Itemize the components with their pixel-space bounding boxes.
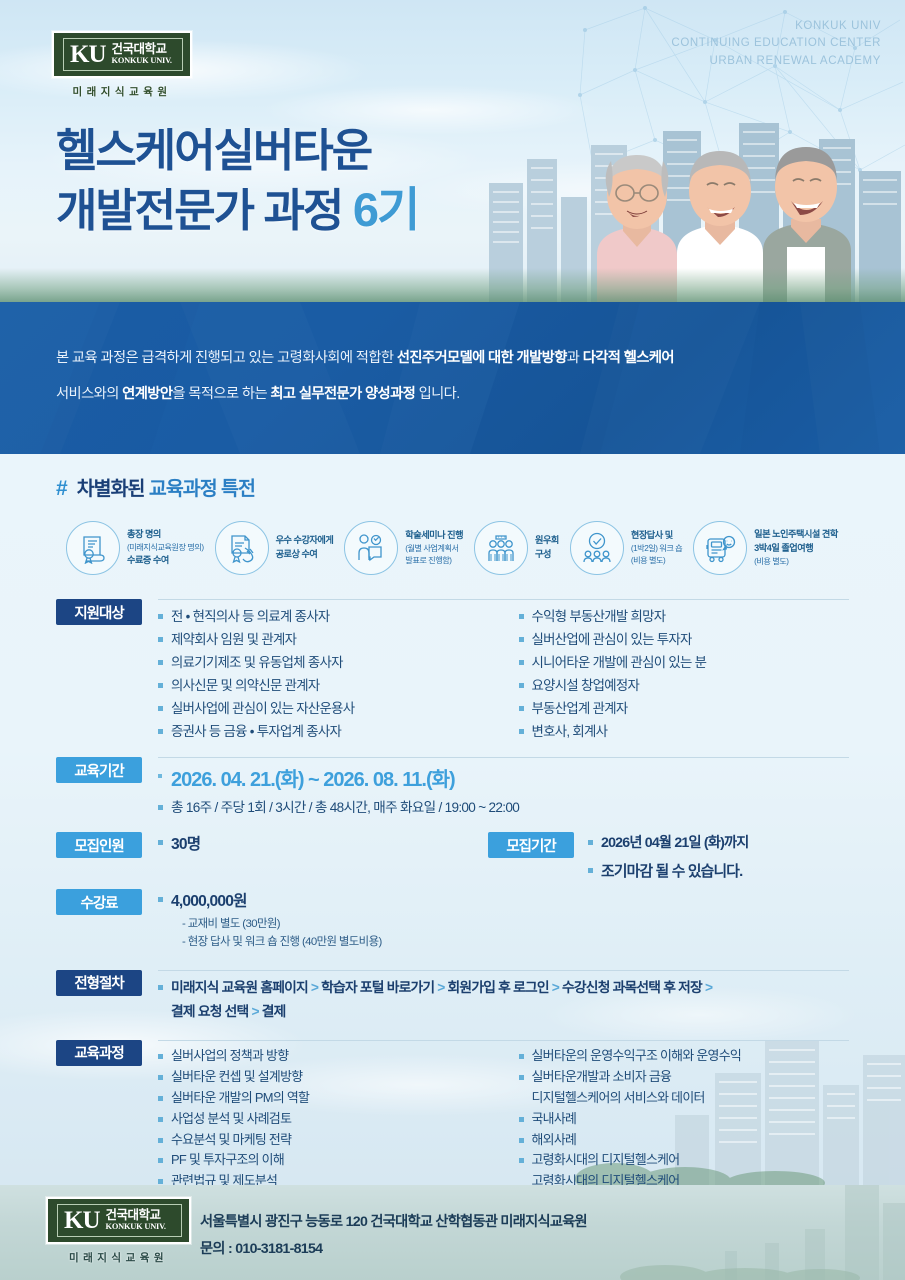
footer-logo: KU 건국대학교 KONKUK UNIV. 미래지식교육원 — [46, 1197, 191, 1265]
logo-box: KU 건국대학교 KONKUK UNIV. — [52, 31, 192, 78]
feature-line: 공로상 수여 — [276, 548, 334, 562]
intro-seg-2a: 서비스 — [56, 386, 94, 402]
intro-seg-1b: 선진주거모델에 대한 개발방향 — [397, 350, 567, 366]
footer-section: KU 건국대학교 KONKUK UNIV. 미래지식교육원 서울특별시 광진구 … — [0, 1185, 905, 1280]
footer-city-decoration — [605, 1185, 905, 1280]
fee-body: 4,000,000원 - 교재비 별도 (30만원) - 현장 답사 및 워크 … — [158, 889, 849, 951]
feature-line: 구성 — [535, 548, 559, 562]
feature-line: 원우회 — [535, 534, 559, 548]
row-quota-recruit: 모집인원 30명 모집기간 2026년 04월 21일 (화)까지 조기마감 될… — [56, 832, 849, 881]
feature-item-alumni: 원우회 구성 — [474, 521, 559, 575]
hero-english-titles: KONKUK UNIV CONTINUING EDUCATION CENTER … — [671, 18, 881, 70]
procedure-separator: > — [434, 980, 447, 995]
curriculum-body: 실버사업의 정책과 방향 실버타운 컨셉 및 설계방향 실버타운 개발의 PM의… — [158, 1040, 849, 1185]
fee-value: 4,000,000원 — [158, 889, 849, 911]
list-item: 실버타운개발과 소비자 금융 — [519, 1067, 850, 1088]
list-item: 관련법규 및 제도분석 — [158, 1171, 489, 1185]
badge-curriculum: 교육과정 — [56, 1040, 142, 1066]
period-date-range: 2026. 04. 21.(화) ~ 2026. 08. 11.(화) — [158, 763, 849, 792]
logo-name-en: KONKUK UNIV. — [112, 56, 172, 65]
intro-seg-1d: 다각적 헬스케어 — [583, 350, 674, 366]
procedure-separator: > — [702, 980, 715, 995]
list-item: 실버사업에 관심이 있는 자산운용사 — [158, 697, 489, 720]
procedure-step: 수강신청 과목선택 후 저장 — [562, 980, 702, 995]
certificate-scroll-icon — [66, 521, 120, 575]
intro-seg-2b: 와의 — [94, 386, 122, 402]
list-item: 요양시설 창업예정자 — [519, 674, 850, 697]
intro-seg-2c: 연계방안 — [122, 386, 172, 402]
feature-text-travel: 일본 노인주택시설 견학 3박4일 졸업여행 (비용 별도) — [754, 528, 838, 568]
features-heading-text: 차별화된 교육과정 특전 — [77, 472, 255, 501]
feature-text-seminar: 학술세미나 진행 (월별 사업계획서 발표로 진행함) — [405, 529, 463, 567]
list-item: 실버타운 컨셉 및 설계방향 — [158, 1067, 489, 1088]
group-people-icon — [474, 521, 528, 575]
logo-subtitle: 미래지식교육원 — [52, 84, 192, 99]
badge-period: 교육기간 — [56, 757, 142, 783]
quota-recruit-body: 30명 모집기간 2026년 04월 21일 (화)까지 조기마감 될 수 있습… — [158, 832, 849, 881]
hero-title-line1: 헬스케어실버타운 — [56, 122, 418, 180]
feature-line: 우수 수강자에게 — [276, 534, 334, 548]
feature-text-award: 우수 수강자에게 공로상 수여 — [276, 534, 334, 562]
quota-value: 30명 — [158, 832, 488, 854]
row-period: 교육기간 2026. 04. 21.(화) ~ 2026. 08. 11.(화)… — [56, 757, 849, 816]
badge-procedure: 전형절차 — [56, 970, 142, 996]
list-item: 실버사업의 정책과 방향 — [158, 1046, 489, 1067]
target-body: 전 • 현직의사 등 의료계 종사자 제약회사 임원 및 관계자 의료기기제조 … — [158, 599, 849, 743]
row-fee: 수강료 4,000,000원 - 교재비 별도 (30만원) - 현장 답사 및… — [56, 889, 849, 951]
feature-item-award: 우수 수강자에게 공로상 수여 — [215, 521, 334, 575]
procedure-body: 미래지식 교육원 홈페이지>학습자 포털 바로가기>회원가입 후 로그인>수강신… — [158, 970, 849, 1024]
seminar-presentation-icon — [344, 521, 398, 575]
footer-logo-ku-mark: KU — [64, 1208, 100, 1233]
fee-note-1: - 교재비 별도 (30만원) — [158, 916, 849, 934]
footer-logo-box: KU 건국대학교 KONKUK UNIV. — [46, 1197, 191, 1244]
curriculum-list-left: 실버사업의 정책과 방향 실버타운 컨셉 및 설계방향 실버타운 개발의 PM의… — [158, 1046, 489, 1185]
hero-title-batch: 6기 — [353, 183, 418, 236]
footer-info: 서울특별시 광진구 능동로 120 건국대학교 산학협동관 미래지식교육원 문의… — [200, 1209, 587, 1263]
target-list-right: 수익형 부동산개발 희망자 실버산업에 관심이 있는 투자자 시니어타운 개발에… — [519, 605, 850, 743]
feature-line: (비용 별도) — [754, 556, 838, 568]
bus-travel-icon — [693, 521, 747, 575]
intro-text: 본 교육 과정은 급격하게 진행되고 있는 고령화사회에 적합한 선진주거모델에… — [0, 302, 905, 413]
body-section: # 차별화된 교육과정 특전 — [0, 454, 905, 1185]
feature-text-alumni: 원우회 구성 — [535, 534, 559, 562]
intro-band: 본 교육 과정은 급격하게 진행되고 있는 고령화사회에 적합한 선진주거모델에… — [0, 302, 905, 454]
logo-name-kr: 건국대학교 — [112, 43, 172, 56]
intro-seg-1a: 본 교육 과정은 급격하게 진행되고 있는 고령화사회에 적합한 — [56, 350, 397, 366]
list-item: 전 • 현직의사 등 의료계 종사자 — [158, 605, 489, 628]
feature-item-seminar: 학술세미나 진행 (월별 사업계획서 발표로 진행함) — [344, 521, 463, 575]
feature-line: 총장 명의 — [127, 528, 204, 542]
list-item: 실버타운 개발의 PM의 역할 — [158, 1088, 489, 1109]
list-item: 변호사, 회계사 — [519, 720, 850, 743]
feature-line: (월별 사업계획서 — [405, 543, 463, 555]
recruit-note: 조기마감 될 수 있습니다. — [588, 860, 749, 881]
procedure-step: 결제 요청 선택 — [171, 1004, 248, 1019]
feature-line: (1박2일) 워크 숍 — [631, 543, 682, 555]
features-heading-accent: 교육과정 특전 — [149, 478, 255, 500]
header-logo: KU 건국대학교 KONKUK UNIV. 미래지식교육원 — [52, 31, 192, 99]
badge-recruit-period: 모집기간 — [488, 832, 574, 858]
list-item: PF 및 투자구조의 이해 — [158, 1150, 489, 1171]
features-heading-plain: 차별화된 — [77, 478, 149, 500]
hero-title: 헬스케어실버타운 개발전문가 과정 6기 — [56, 122, 418, 240]
feature-line: (미래지식교육원장 명의) — [127, 542, 204, 554]
list-item: 실버타운의 운영수익구조 이해와 운영수익 — [519, 1046, 850, 1067]
eng-line-2: CONTINUING EDUCATION CENTER — [671, 35, 881, 52]
feature-text-workshop: 현장답사 및 (1박2일) 워크 숍 (비용 별도) — [631, 529, 682, 567]
feature-line: 수료증 수여 — [127, 554, 204, 568]
period-detail: 총 16주 / 주당 1회 / 3시간 / 총 48시간, 매주 화요일 / 1… — [158, 796, 849, 816]
features-heading: # 차별화된 교육과정 특전 — [56, 472, 849, 501]
footer-address: 서울특별시 광진구 능동로 120 건국대학교 산학협동관 미래지식교육원 — [200, 1209, 587, 1236]
intro-line-2: 서비스와의 연계방안을 목적으로 하는 최고 실무전문가 양성과정 입니다. — [56, 376, 849, 412]
recruit-deadline: 2026년 04월 21일 (화)까지 — [588, 832, 749, 852]
feature-line: 일본 노인주택시설 견학 — [754, 528, 838, 542]
list-item: 국내사례 — [519, 1109, 850, 1130]
list-item: 디지털헬스케어의 서비스와 데이터 — [519, 1088, 850, 1109]
footer-logo-subtitle: 미래지식교육원 — [46, 1250, 191, 1265]
fee-note-2: - 현장 답사 및 워크 숍 진행 (40만원 별도비용) — [158, 934, 849, 952]
list-item: 해외사례 — [519, 1130, 850, 1151]
feature-line: (비용 별도) — [631, 555, 682, 567]
hero-title-line2-text: 개발전문가 과정 — [56, 185, 342, 236]
features-list: 총장 명의 (미래지식교육원장 명의) 수료증 수여 — [56, 515, 849, 585]
row-target: 지원대상 전 • 현직의사 등 의료계 종사자 제약회사 임원 및 관계자 의료… — [56, 599, 849, 743]
list-item: 부동산업계 관계자 — [519, 697, 850, 720]
poster-root: KU 건국대학교 KONKUK UNIV. 미래지식교육원 KONKUK UNI… — [0, 0, 905, 1280]
hero-title-line2: 개발전문가 과정 6기 — [56, 180, 418, 240]
list-item: 증권사 등 금융 • 투자업계 종사자 — [158, 720, 489, 743]
intro-seg-1c: 과 — [567, 350, 583, 366]
list-item: 실버산업에 관심이 있는 투자자 — [519, 628, 850, 651]
badge-target: 지원대상 — [56, 599, 142, 625]
row-procedure: 전형절차 미래지식 교육원 홈페이지>학습자 포털 바로가기>회원가입 후 로그… — [56, 970, 849, 1024]
eng-line-1: KONKUK UNIV — [671, 18, 881, 35]
procedure-step: 결제 — [262, 1004, 286, 1019]
feature-text-certificate: 총장 명의 (미래지식교육원장 명의) 수료증 수여 — [127, 528, 204, 568]
procedure-separator: > — [248, 1004, 261, 1019]
list-item: 수요분석 및 마케팅 전략 — [158, 1130, 489, 1151]
list-item: 수익형 부동산개발 희망자 — [519, 605, 850, 628]
body-content: # 차별화된 교육과정 특전 — [0, 472, 905, 1185]
list-item: 의료기기제조 및 유동업체 종사자 — [158, 651, 489, 674]
target-list-left: 전 • 현직의사 등 의료계 종사자 제약회사 임원 및 관계자 의료기기제조 … — [158, 605, 489, 743]
hash-icon: # — [56, 477, 68, 501]
footer-logo-name-en: KONKUK UNIV. — [106, 1222, 166, 1231]
list-item: 사업성 분석 및 사례검토 — [158, 1109, 489, 1130]
logo-ku-mark: KU — [70, 42, 106, 67]
check-people-icon — [570, 521, 624, 575]
feature-line: 현장답사 및 — [631, 529, 682, 543]
hero-section: KU 건국대학교 KONKUK UNIV. 미래지식교육원 KONKUK UNI… — [0, 0, 905, 302]
feature-line: 발표로 진행함) — [405, 555, 463, 567]
period-body: 2026. 04. 21.(화) ~ 2026. 08. 11.(화) 총 16… — [158, 757, 849, 816]
feature-item-workshop: 현장답사 및 (1박2일) 워크 숍 (비용 별도) — [570, 521, 682, 575]
row-curriculum: 교육과정 실버사업의 정책과 방향 실버타운 컨셉 및 설계방향 실버타운 개발… — [56, 1040, 849, 1185]
footer-contact: 문의 : 010-3181-8154 — [200, 1236, 587, 1263]
footer-logo-name-kr: 건국대학교 — [106, 1209, 166, 1222]
eng-line-3: URBAN RENEWAL ACADEMY — [671, 53, 881, 70]
intro-seg-2f: 입니다. — [415, 386, 459, 402]
award-hand-icon — [215, 521, 269, 575]
procedure-separator: > — [549, 980, 562, 995]
procedure-steps: 미래지식 교육원 홈페이지>학습자 포털 바로가기>회원가입 후 로그인>수강신… — [158, 976, 849, 1024]
feature-line: 학술세미나 진행 — [405, 529, 463, 543]
badge-quota: 모집인원 — [56, 832, 142, 858]
list-item: 제약회사 임원 및 관계자 — [158, 628, 489, 651]
greenery-decoration — [0, 268, 905, 302]
intro-seg-2e: 최고 실무전문가 양성과정 — [270, 386, 415, 402]
list-item: 시니어타운 개발에 관심이 있는 분 — [519, 651, 850, 674]
list-item: 고령화시대의 디지털헬스케어 — [519, 1171, 850, 1185]
list-item: 고령화시대의 디지털헬스케어 — [519, 1150, 850, 1171]
procedure-step: 미래지식 교육원 홈페이지 — [171, 980, 308, 995]
procedure-step: 학습자 포털 바로가기 — [321, 980, 434, 995]
badge-fee: 수강료 — [56, 889, 142, 915]
feature-line: 3박4일 졸업여행 — [754, 542, 838, 556]
list-item: 의사신문 및 의약신문 관계자 — [158, 674, 489, 697]
procedure-separator: > — [308, 980, 321, 995]
intro-seg-2d: 을 목적으로 하는 — [172, 386, 270, 402]
procedure-step: 회원가입 후 로그인 — [448, 980, 549, 995]
curriculum-list-right: 실버타운의 운영수익구조 이해와 운영수익 실버타운개발과 소비자 금융 디지털… — [519, 1046, 850, 1185]
feature-item-travel: 일본 노인주택시설 견학 3박4일 졸업여행 (비용 별도) — [693, 521, 838, 575]
intro-line-1: 본 교육 과정은 급격하게 진행되고 있는 고령화사회에 적합한 선진주거모델에… — [56, 340, 849, 376]
feature-item-certificate: 총장 명의 (미래지식교육원장 명의) 수료증 수여 — [66, 521, 204, 575]
